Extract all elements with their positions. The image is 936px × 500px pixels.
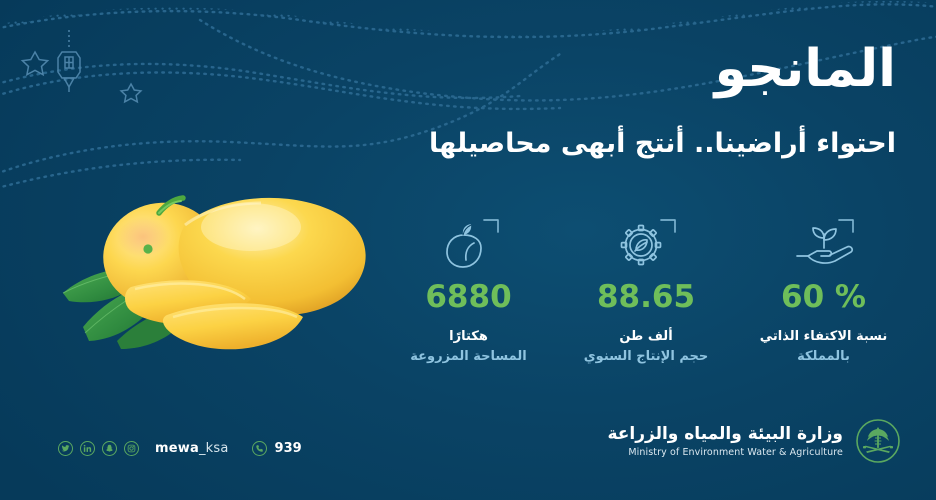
ministry-text: وزارة البيئة والمياه والزراعة Ministry o… [607, 424, 843, 458]
stat-description: المساحة المزروعة [410, 347, 526, 367]
stat-self-sufficiency: % 60 نسبة الاكتفاء الذاتي بالمملكة [741, 218, 906, 366]
saudi-palm-swords-emblem [855, 418, 901, 464]
phone-block: 939 [252, 441, 302, 456]
ministry-logo: وزارة البيئة والمياه والزراعة Ministry o… [607, 418, 901, 464]
handle-main: mewa [155, 441, 199, 456]
twitter-icon[interactable] [58, 441, 73, 456]
stat-unit: هكتارًا [449, 327, 488, 347]
page-subtitle: احتواء أراضينا.. أنتج أبهى محاصيلها [429, 128, 896, 159]
stat-value: 6880 [425, 282, 511, 313]
social-handle: mewa_ksa [155, 441, 229, 456]
infographic-canvas: المانجو احتواء أراضينا.. أنتج أبهى محاصي… [0, 0, 936, 500]
phone-icon[interactable] [252, 441, 267, 456]
stat-value: 88.65 [597, 282, 695, 313]
stat-description: بالمملكة [797, 347, 850, 367]
handle-suffix: _ksa [199, 441, 229, 456]
page-title: المانجو [715, 42, 896, 97]
gear-leaf-icon [615, 218, 677, 270]
stat-value: % 60 [781, 282, 866, 313]
star-icon [121, 84, 141, 102]
instagram-icon[interactable] [124, 441, 139, 456]
linkedin-icon[interactable] [80, 441, 95, 456]
lantern-icon [58, 30, 80, 92]
stat-unit: نسبة الاكتفاء الذاتي [760, 327, 888, 347]
mango-fruit-photo [55, 165, 400, 375]
mango-outline-icon [438, 218, 500, 270]
stat-cultivated-area: 6880 هكتارًا المساحة المزروعة [386, 218, 551, 366]
statistics-row: % 60 نسبة الاكتفاء الذاتي بالمملكة [386, 218, 906, 366]
phone-number: 939 [275, 441, 302, 456]
ministry-name-en: Ministry of Environment Water & Agricult… [607, 447, 843, 458]
stat-annual-production: 88.65 ألف طن حجم الإنتاج السنوي [564, 218, 729, 366]
hand-holding-plant-icon [793, 218, 855, 270]
star-icon [22, 52, 47, 75]
social-bar: mewa_ksa 939 [58, 441, 302, 456]
snapchat-icon[interactable] [102, 441, 117, 456]
stat-description: حجم الإنتاج السنوي [584, 347, 709, 367]
ministry-name-ar: وزارة البيئة والمياه والزراعة [607, 424, 843, 445]
stat-unit: ألف طن [619, 327, 672, 347]
